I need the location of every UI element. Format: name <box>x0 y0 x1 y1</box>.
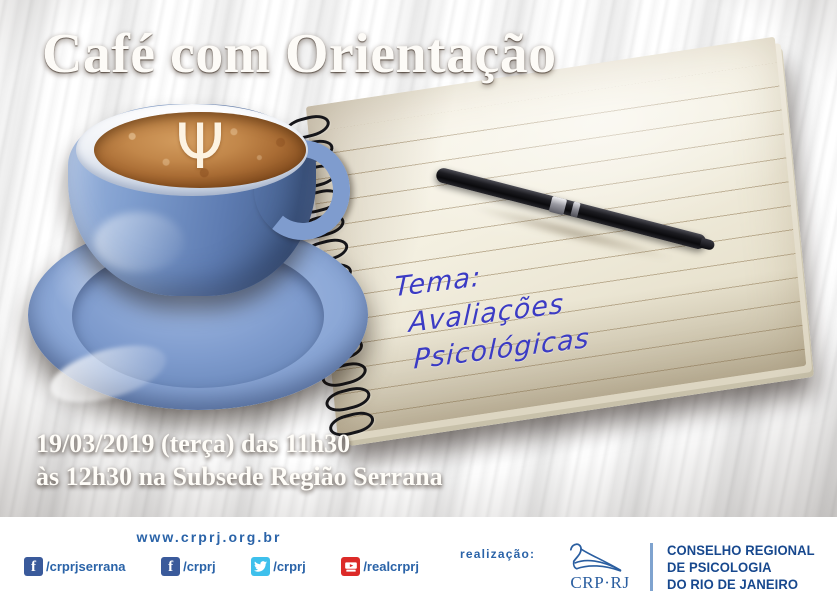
social-handle: /crprj <box>181 559 216 574</box>
org-name-line-2: DE PSICOLOGIA <box>667 559 815 576</box>
crprj-logo-mark: CRP·RJ <box>562 541 638 593</box>
facebook-icon: f <box>161 557 180 576</box>
realizacao-label: realização: <box>460 547 535 561</box>
social-link-twitter-crprj[interactable]: /crprj <box>251 557 306 576</box>
social-handle: /crprj <box>271 559 306 574</box>
social-link-facebook-serrana[interactable]: f /crprjserrana <box>24 557 126 576</box>
youtube-icon <box>341 557 360 576</box>
social-handle: /crprjserrana <box>44 559 126 574</box>
twitter-icon <box>251 557 270 576</box>
footer: www.crprj.org.br f /crprjserrana f /crpr… <box>0 517 837 600</box>
event-date-line-2: às 12h30 na Subsede Região Serrana <box>36 460 443 493</box>
social-handle: /realcrprj <box>361 559 419 574</box>
social-link-youtube-realcrprj[interactable]: /realcrprj <box>341 557 419 576</box>
facebook-icon: f <box>24 557 43 576</box>
social-links: f /crprjserrana f /crprj /crprj <box>24 557 419 576</box>
social-link-facebook-crprj[interactable]: f /crprj <box>161 557 216 576</box>
crprj-logo-text: CRP·RJ <box>570 573 629 593</box>
bird-wave-icon <box>564 541 636 576</box>
event-datetime: 19/03/2019 (terça) das 11h30 às 12h30 na… <box>36 427 443 493</box>
org-name-line-1: CONSELHO REGIONAL <box>667 542 815 559</box>
organization-name: CONSELHO REGIONAL DE PSICOLOGIA DO RIO D… <box>667 542 815 593</box>
logo-divider <box>650 543 653 591</box>
photo-background: Tema: Avaliações Psicológicas <box>0 0 837 517</box>
poster: Tema: Avaliações Psicológicas <box>0 0 837 600</box>
crprj-logo: CRP·RJ CONSELHO REGIONAL DE PSICOLOGIA D… <box>562 541 825 593</box>
org-name-line-3: DO RIO DE JANEIRO <box>667 576 815 593</box>
website-link[interactable]: www.crprj.org.br <box>0 529 418 545</box>
page-title: Café com Orientação <box>42 22 557 86</box>
event-date-line-1: 19/03/2019 (terça) das 11h30 <box>36 427 443 460</box>
